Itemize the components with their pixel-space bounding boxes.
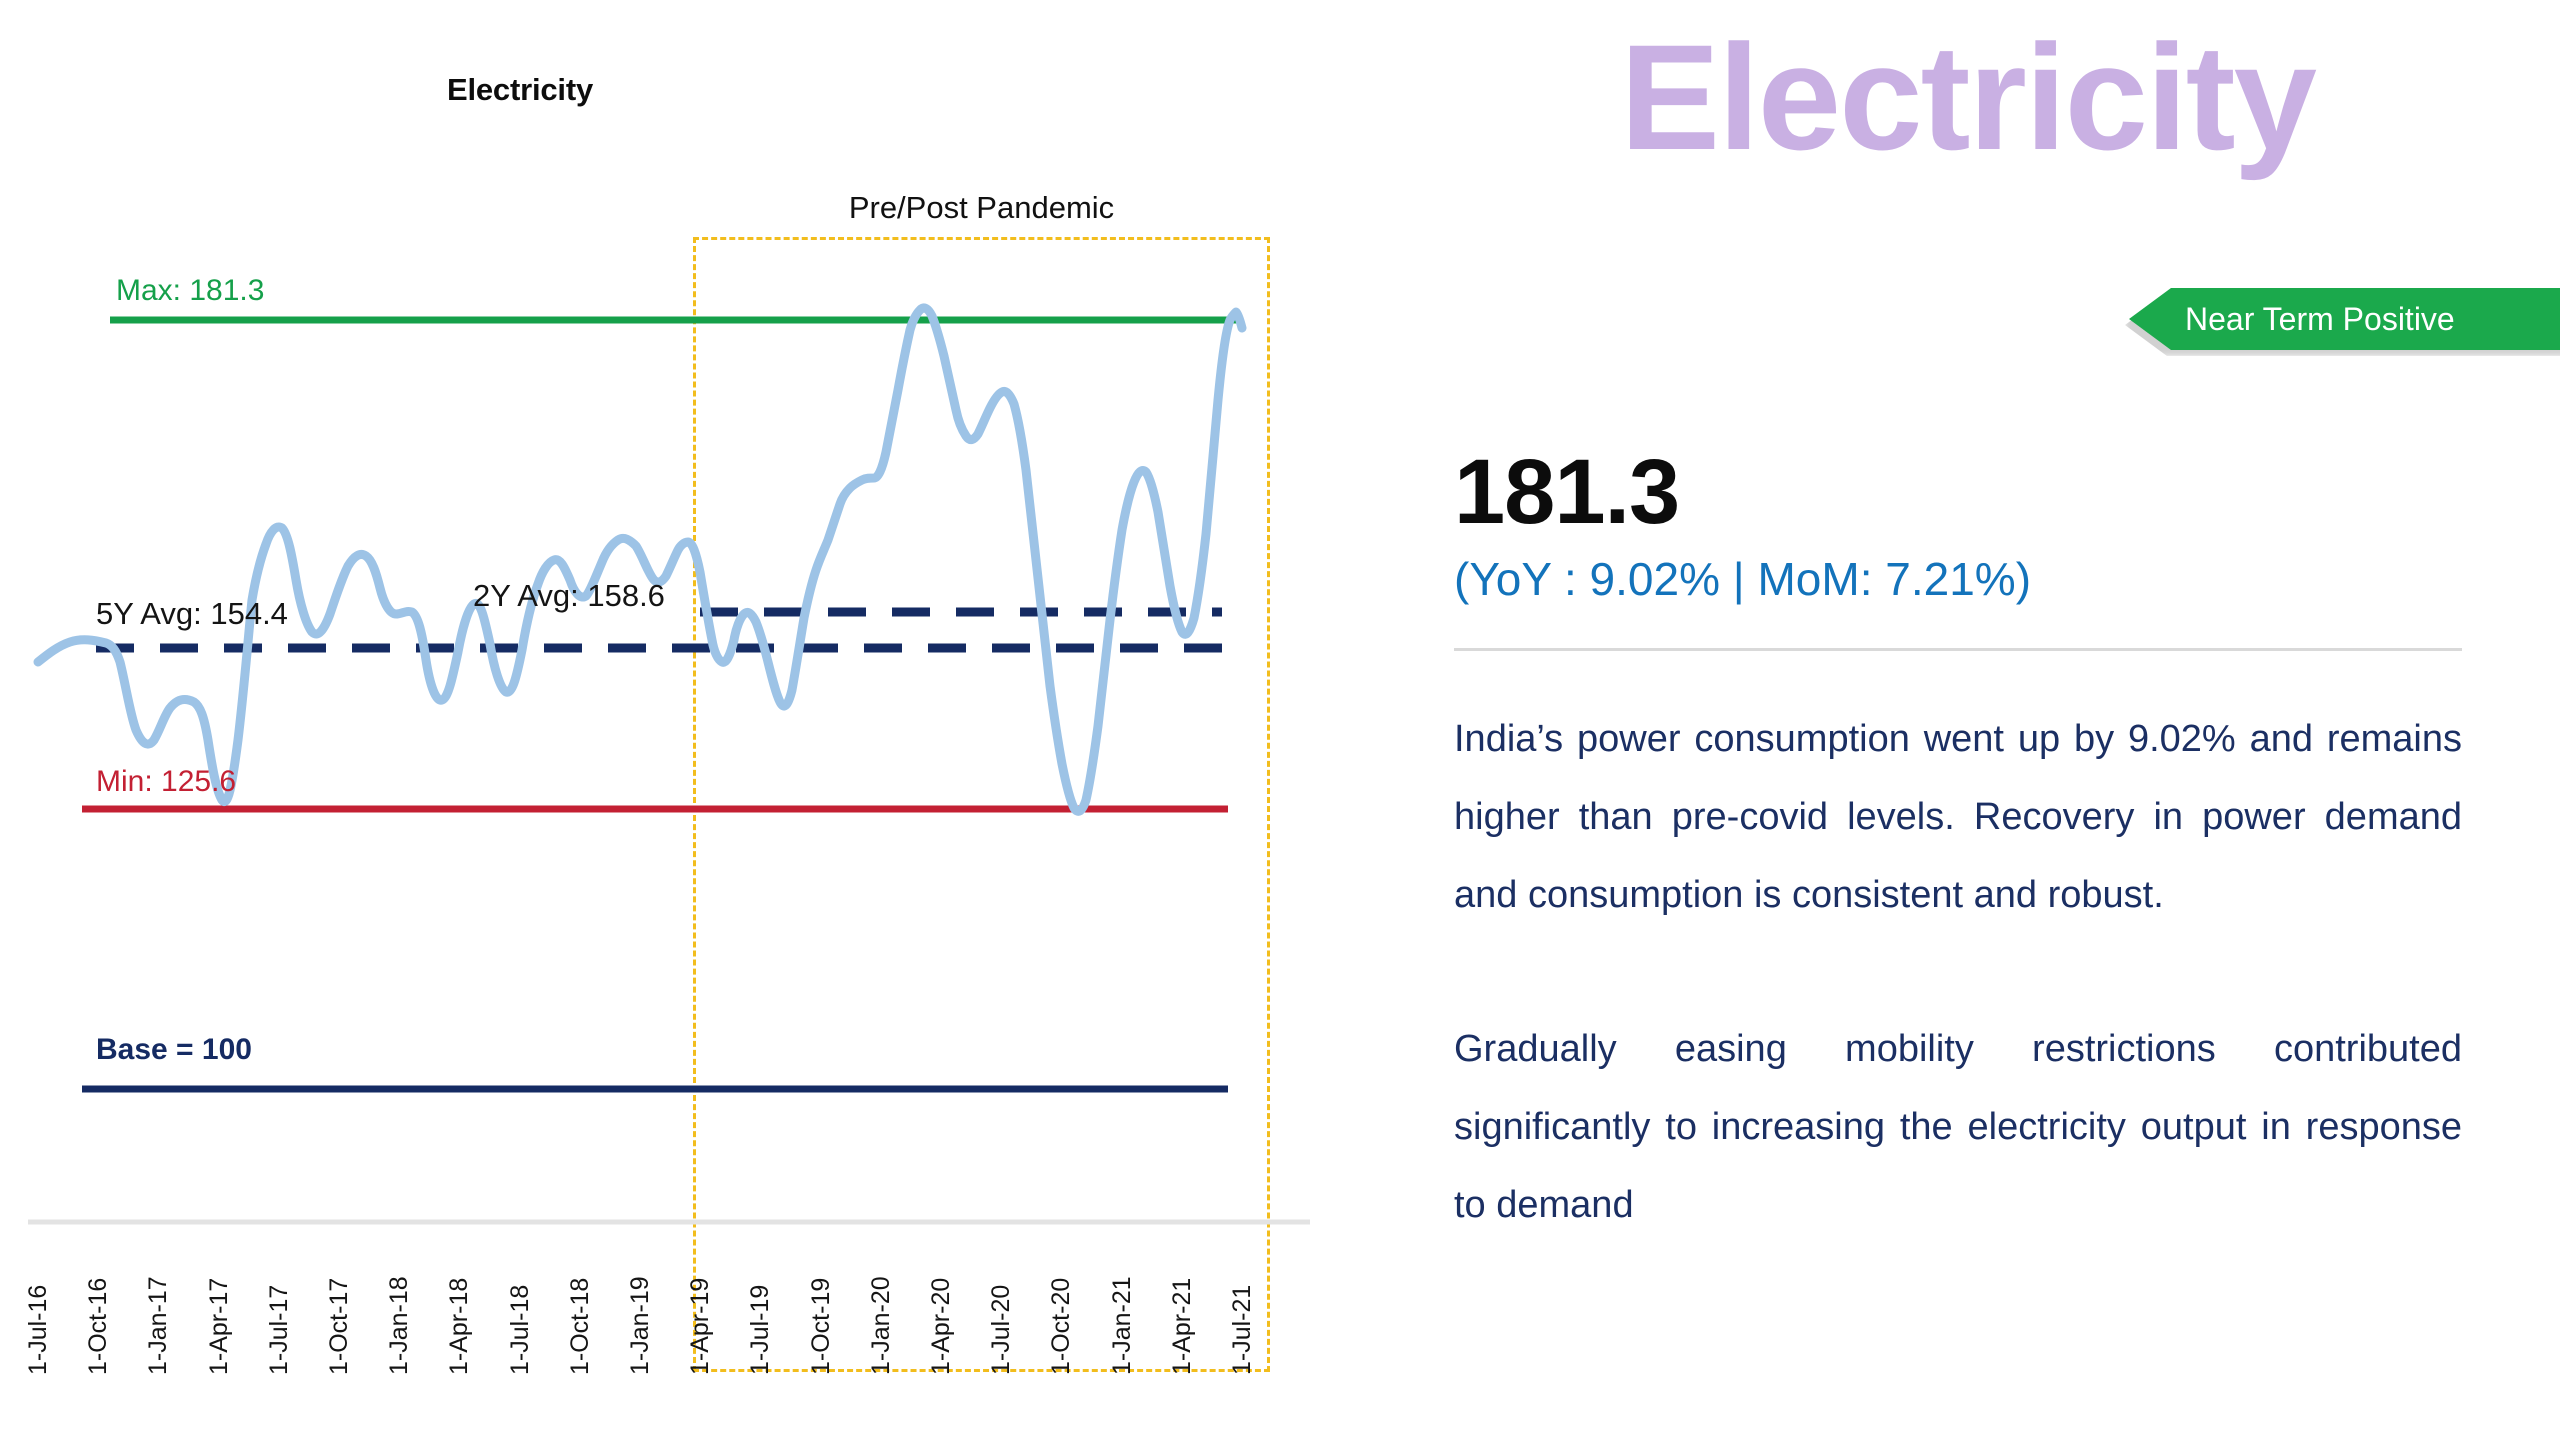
x-axis-tick-label: 1-Jan-17 [147,1225,169,1375]
x-axis-tick-label: 1-Apr-20 [930,1225,952,1375]
x-axis-tick-label: 1-Jan-18 [388,1225,410,1375]
x-axis-tick-label: 1-Jul-16 [27,1225,49,1375]
divider [1454,648,2462,651]
chart-panel: Electricity Pre/Post Pandemic Max: 181.3… [0,0,1330,1440]
x-axis-tick-label: 1-Jul-21 [1231,1225,1253,1375]
x-axis-tick-label: 1-Jul-18 [509,1225,531,1375]
x-axis-tick-label: 1-Jan-21 [1111,1225,1133,1375]
x-axis-tick-label: 1-Apr-21 [1171,1225,1193,1375]
max-label: Max: 181.3 [116,274,264,308]
x-axis-tick-labels: 1-Jul-161-Oct-161-Jan-171-Apr-171-Jul-17… [0,1225,1330,1385]
page-title: Electricity [1620,16,2550,178]
x-axis-tick-label: 1-Oct-18 [569,1225,591,1375]
line-chart-plot [0,0,1330,1440]
x-axis-tick-label: 1-Apr-19 [689,1225,711,1375]
x-axis-tick-label: 1-Jul-19 [749,1225,771,1375]
x-axis-tick-label: 1-Apr-17 [208,1225,230,1375]
description-paragraph-2: Gradually easing mobility restrictions c… [1454,1010,2462,1244]
min-label: Min: 125.6 [96,765,236,799]
slide-root: Electricity Pre/Post Pandemic Max: 181.3… [0,0,2560,1440]
x-axis-tick-label: 1-Oct-20 [1050,1225,1072,1375]
metric-value: 181.3 [1454,440,1679,545]
x-axis-tick-label: 1-Oct-16 [87,1225,109,1375]
metric-change: (YoY : 9.02% | MoM: 7.21%) [1454,552,2031,606]
x-axis-tick-label: 1-Apr-18 [448,1225,470,1375]
x-axis-tick-label: 1-Oct-17 [328,1225,350,1375]
x-axis-tick-label: 1-Jan-19 [629,1225,651,1375]
x-axis-tick-label: 1-Oct-19 [810,1225,832,1375]
electricity-series-line [38,308,1242,811]
avg-5y-label: 5Y Avg: 154.4 [96,596,288,632]
description-paragraph-1: India’s power consumption went up by 9.0… [1454,700,2462,934]
x-axis-tick-label: 1-Jul-17 [268,1225,290,1375]
base-label: Base = 100 [96,1033,252,1067]
avg-2y-label: 2Y Avg: 158.6 [473,578,665,614]
info-panel: Electricity Near Term Positive 181.3 (Yo… [1330,0,2560,1440]
x-axis-tick-label: 1-Jan-20 [870,1225,892,1375]
status-badge: Near Term Positive [2125,288,2560,350]
x-axis-tick-label: 1-Jul-20 [990,1225,1012,1375]
status-badge-label: Near Term Positive [2185,288,2455,350]
